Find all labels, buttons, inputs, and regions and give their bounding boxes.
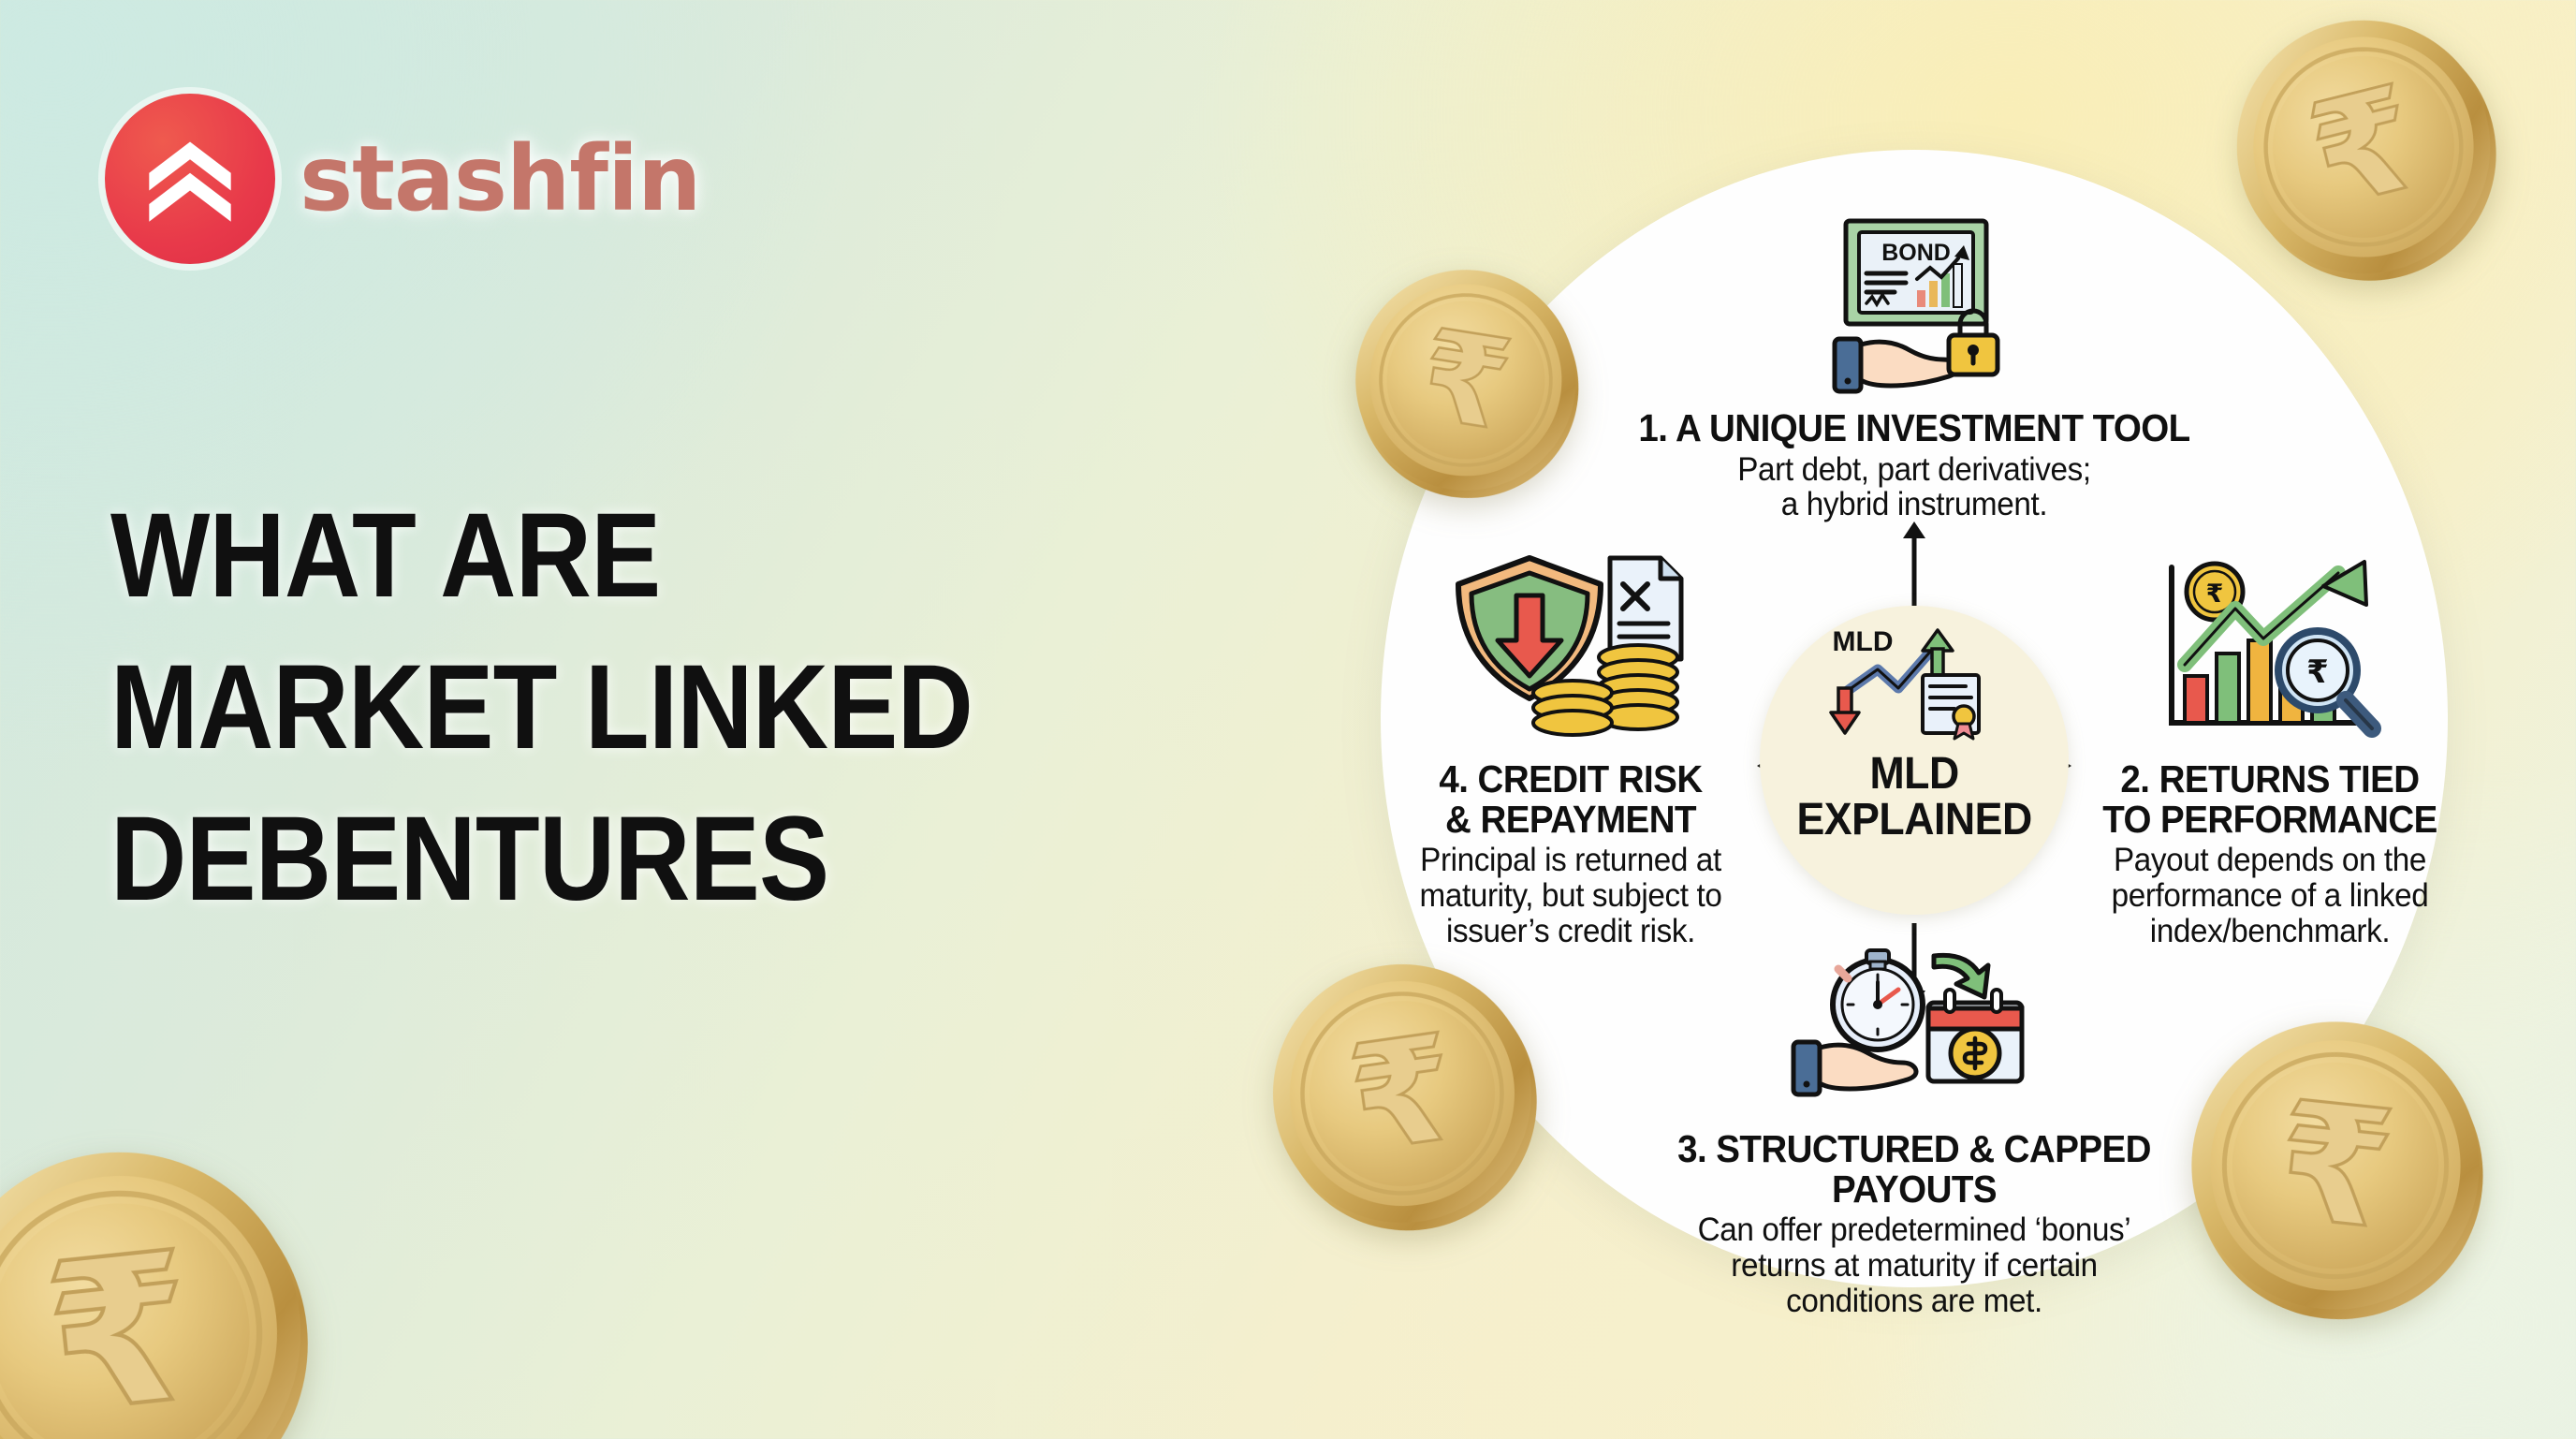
mld-hub-label: MLD EXPLAINED	[1796, 752, 2031, 844]
rupee-coin-bottom-left-small	[1244, 935, 1561, 1253]
rupee-coin-bottom-left-large	[0, 1117, 336, 1439]
svg-text:₹: ₹	[2206, 580, 2224, 609]
page-title: WHAT ARE MARKET LINKED DEBENTURES	[110, 496, 1181, 951]
mld-chart-certificate-icon: MLD	[1825, 624, 2003, 746]
node-structured-capped-payouts: 3. STRUCTURED & CAPPED PAYOUTS Can offer…	[1582, 941, 2247, 1319]
mld-hub: MLD MLD EXPLAINED	[1760, 606, 2069, 915]
node-title: 2. RETURNS TIED TO PERFORMANCE	[2081, 759, 2459, 839]
stopwatch-calendar-dollar-icon	[1582, 941, 2247, 1123]
hub-title-line-2: EXPLAINED	[1796, 795, 2031, 844]
rupee-coin-mid-left	[1329, 243, 1603, 518]
svg-text:MLD: MLD	[1833, 626, 1894, 657]
headline-line-2: MARKET LINKED	[110, 648, 1181, 768]
node-description: Can offer predetermined ‘bonus’ returns …	[1599, 1212, 2231, 1318]
node-unique-investment-tool: BOND 1. A UNIQUE INVESTMENT TOOL Part de…	[1582, 215, 2247, 522]
growth-chart-magnifier-rupee-icon: ₹ ₹	[2069, 552, 2471, 754]
brand-wordmark: stashfin	[300, 126, 700, 231]
svg-text:₹: ₹	[2306, 653, 2329, 691]
node-description: Principal is returned at maturity, but s…	[1380, 843, 1763, 948]
shield-down-arrow-coins-icon	[1369, 552, 1772, 754]
stashfin-chevron-icon	[105, 94, 275, 264]
node-title: 1. A UNIQUE INVESTMENT TOOL	[1602, 408, 2226, 448]
svg-text:BOND: BOND	[1881, 240, 1951, 266]
node-description: Part debt, part derivatives; a hybrid in…	[1599, 452, 2231, 523]
node-description: Payout depends on the performance of a l…	[2079, 843, 2462, 948]
node-title: 3. STRUCTURED & CAPPED PAYOUTS	[1602, 1129, 2226, 1209]
rupee-coin-bottom-right	[2163, 993, 2507, 1337]
node-credit-risk-repayment: 4. CREDIT RISK & REPAYMENT Principal is …	[1369, 552, 1772, 949]
hub-title-line-1: MLD	[1869, 749, 1958, 799]
bond-certificate-hand-lock-icon: BOND	[1582, 215, 2247, 403]
node-returns-tied-to-performance: ₹ ₹ 2. RETURNS TIED TO PERFORMANCE Payou…	[2069, 552, 2471, 949]
headline-line-1: WHAT ARE	[110, 496, 1181, 616]
brand-logo[interactable]: stashfin	[105, 94, 700, 264]
node-title: 4. CREDIT RISK & REPAYMENT	[1382, 759, 1760, 839]
headline-line-3: DEBENTURES	[110, 800, 1181, 919]
arrow-up-icon	[1897, 520, 1931, 610]
